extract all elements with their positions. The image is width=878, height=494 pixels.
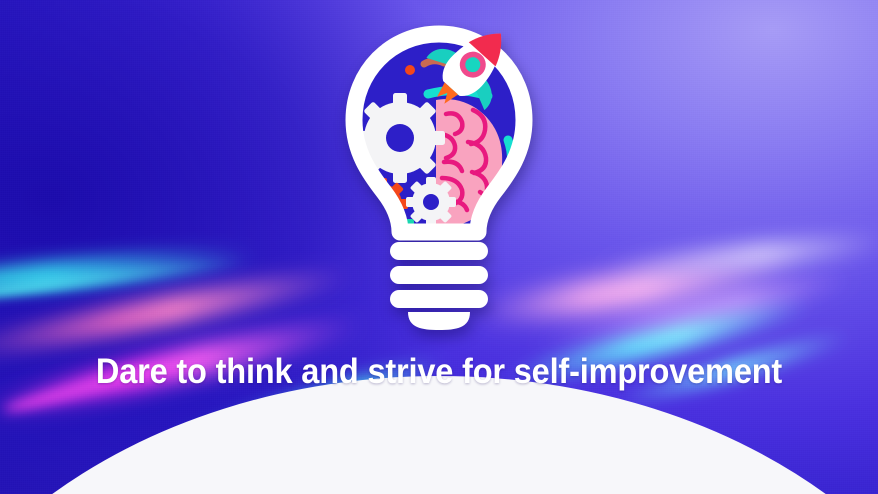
lightbulb-brain-rocket-illustration [332, 22, 546, 330]
bulb-base-cap [408, 312, 470, 330]
bulb-base-ring-3 [390, 290, 488, 308]
gear-small-white [406, 177, 456, 227]
banner-headline: Dare to think and strive for self-improv… [31, 352, 848, 392]
bulb-base-ring-2 [390, 266, 488, 284]
bulb-base-ring-1 [390, 242, 488, 260]
promo-banner: Dare to think and strive for self-improv… [0, 0, 878, 494]
